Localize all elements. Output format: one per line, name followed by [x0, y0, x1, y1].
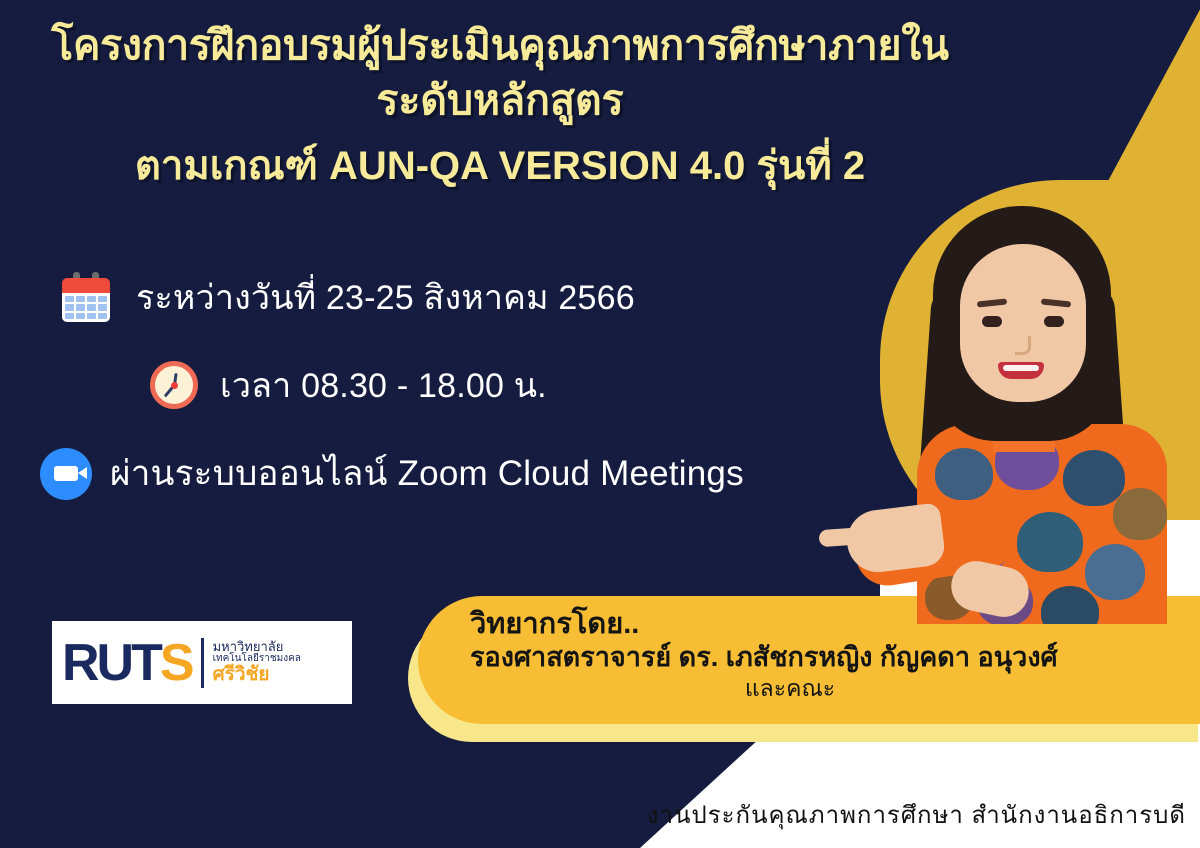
eye-right: [1044, 316, 1064, 327]
nose: [1015, 336, 1031, 355]
detail-row-platform: ผ่านระบบออนไลน์ Zoom Cloud Meetings: [40, 446, 880, 501]
title-line-2: ระดับหลักสูตร: [0, 79, 1000, 122]
detail-row-time: เวลา 08.30 - 18.00 น.: [150, 358, 880, 412]
logo-university-name: มหาวิทยาลัย เทคโนโลยีราชมงคล ศรีวิชัย: [213, 640, 301, 684]
speaker-name: รองศาสตราจารย์ ดร. เภสัชกรหญิง กัญคดา อน…: [470, 641, 1200, 673]
clock-icon: [150, 361, 198, 409]
ruts-logo: RUT S มหาวิทยาลัย เทคโนโลยีราชมงคล ศรีวิ…: [52, 621, 352, 704]
eye-left: [982, 316, 1002, 327]
logo-divider: [201, 638, 204, 688]
event-details: ระหว่างวันที่ 23-25 สิงหาคม 2566 เวลา 08…: [40, 270, 880, 535]
mouth: [998, 362, 1044, 379]
logo-text-s: S: [160, 637, 192, 689]
speaker-others: และคณะ: [470, 675, 1110, 703]
page-title: โครงการฝึกอบรมผู้ประเมินคุณภาพการศึกษาภา…: [0, 24, 1000, 187]
logo-wordmark: RUT S: [62, 637, 192, 689]
footer-organizer: งานประกันคุณภาพการศึกษา สำนักงานอธิการบด…: [647, 795, 1186, 834]
calendar-icon: [62, 272, 110, 322]
speaker-photo: [855, 196, 1200, 616]
logo-text-rut: RUT: [62, 637, 160, 689]
title-line-1: โครงการฝึกอบรมผู้ประเมินคุณภาพการศึกษาภา…: [0, 24, 1000, 67]
detail-row-date: ระหว่างวันที่ 23-25 สิงหาคม 2566: [62, 270, 880, 324]
poster-canvas: โครงการฝึกอบรมผู้ประเมินคุณภาพการศึกษาภา…: [0, 0, 1200, 848]
zoom-video-icon: [40, 448, 92, 500]
logo-thai-line-3: ศรีวิชัย: [213, 665, 301, 685]
time-text: เวลา 08.30 - 18.00 น.: [220, 358, 547, 412]
date-text: ระหว่างวันที่ 23-25 สิงหาคม 2566: [136, 270, 635, 324]
title-line-3: ตามเกณฑ์ AUN-QA VERSION 4.0 รุ่นที่ 2: [0, 145, 1000, 187]
platform-text: ผ่านระบบออนไลน์ Zoom Cloud Meetings: [110, 446, 744, 501]
